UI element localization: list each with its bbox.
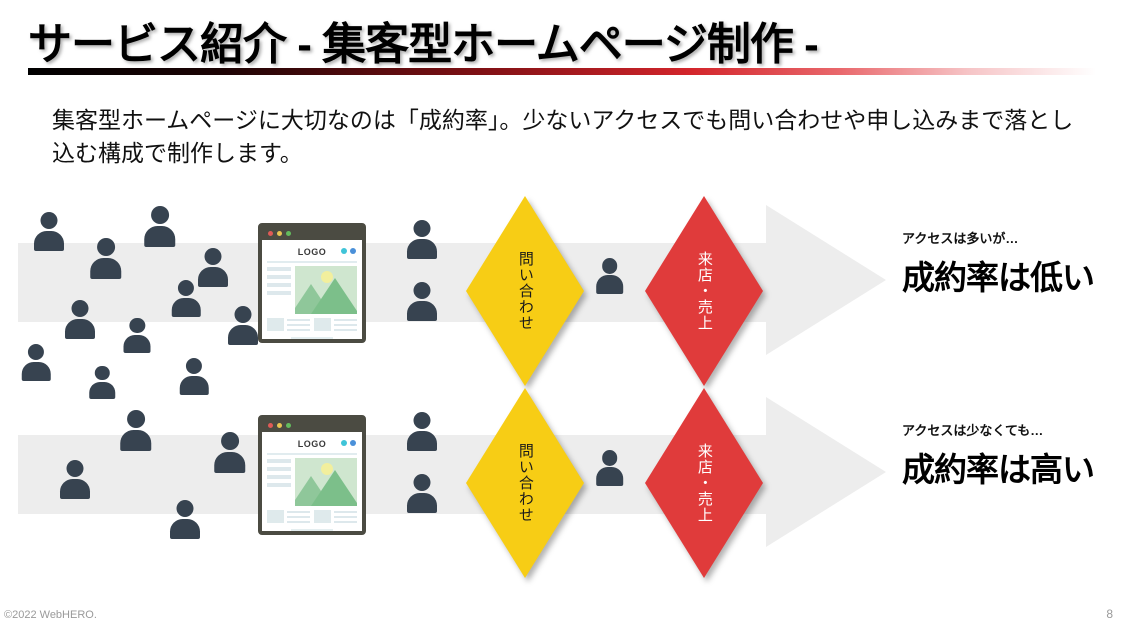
footer-copyright: ©2022 WebHERO. — [4, 609, 97, 621]
step-inquiry-label: 問い合わせ — [516, 443, 534, 523]
flow-row-low-traffic: LOGO — [0, 388, 1125, 578]
caption-big: 成約率は低い — [902, 251, 1094, 299]
person-icon — [594, 258, 625, 294]
mockup-logo: LOGO — [298, 247, 327, 257]
blue-dot-icon — [350, 248, 356, 254]
flow-row-high-traffic: LOGO — [0, 196, 1125, 386]
mountain-right-icon — [311, 278, 357, 314]
person-icon — [63, 300, 97, 339]
cyan-dot-icon — [341, 248, 347, 254]
blue-dot-icon — [350, 440, 356, 446]
page-title: サービス紹介 - 集客型ホームページ制作 - — [28, 8, 818, 72]
maximize-dot-icon — [286, 231, 291, 236]
person-icon — [594, 450, 625, 486]
browser-titlebar — [262, 419, 362, 432]
person-icon — [32, 212, 66, 251]
flow-arrow-head — [766, 205, 886, 355]
lead-paragraph: 集客型ホームページに大切なのは「成約率」。少ないアクセスでも問い合わせや申し込み… — [52, 104, 1088, 169]
person-icon — [212, 432, 248, 473]
slide: サービス紹介 - 集客型ホームページ制作 - 集客型ホームページに大切なのは「成… — [0, 0, 1125, 632]
person-icon — [122, 318, 153, 353]
person-icon — [405, 474, 439, 513]
mockup-cards — [267, 318, 357, 331]
mockup-header: LOGO — [267, 244, 357, 259]
caption-high-traffic: アクセスは多いが… 成約率は低い — [902, 228, 1094, 299]
step-inquiry: 問い合わせ — [466, 196, 584, 386]
step-visit-sales: 来店・売上 — [645, 196, 763, 386]
mockup-cards — [267, 510, 357, 523]
caption-small: アクセスは多いが… — [902, 228, 1094, 247]
step-visit-sales-label: 来店・売上 — [695, 443, 713, 523]
person-icon — [88, 238, 124, 279]
browser-page: LOGO — [262, 240, 362, 343]
browser-page: LOGO — [262, 432, 362, 535]
website-mockup: LOGO — [258, 415, 366, 535]
person-icon — [405, 220, 439, 259]
person-icon — [168, 500, 202, 539]
mockup-hero-image — [295, 458, 357, 506]
mockup-header: LOGO — [267, 436, 357, 451]
caption-big: 成約率は高い — [902, 443, 1094, 491]
person-icon — [170, 280, 202, 317]
mockup-divider — [267, 261, 357, 263]
step-inquiry: 問い合わせ — [466, 388, 584, 578]
person-icon — [142, 206, 178, 247]
step-visit-sales: 来店・売上 — [645, 388, 763, 578]
mockup-body — [267, 458, 357, 506]
mockup-sidebar — [267, 266, 291, 314]
cyan-dot-icon — [341, 440, 347, 446]
person-icon — [20, 344, 52, 381]
page-number: 8 — [1106, 607, 1113, 621]
person-icon — [405, 282, 439, 321]
mountain-right-icon — [311, 470, 357, 506]
caption-low-traffic: アクセスは少なくても… 成約率は高い — [902, 420, 1094, 491]
person-icon — [226, 306, 260, 345]
mockup-divider — [267, 453, 357, 455]
mockup-nav-dots — [341, 248, 356, 254]
step-inquiry-label: 問い合わせ — [516, 251, 534, 331]
person-icon — [58, 460, 92, 499]
mockup-sidebar — [267, 458, 291, 506]
mockup-footer-line — [291, 529, 332, 531]
caption-small: アクセスは少なくても… — [902, 420, 1094, 439]
mockup-body — [267, 266, 357, 314]
mockup-logo: LOGO — [298, 439, 327, 449]
mockup-nav-dots — [341, 440, 356, 446]
title-underline-rule — [28, 68, 1096, 75]
minimize-dot-icon — [277, 423, 282, 428]
person-icon — [118, 410, 154, 451]
step-visit-sales-label: 来店・売上 — [695, 251, 713, 331]
maximize-dot-icon — [286, 423, 291, 428]
close-dot-icon — [268, 231, 273, 236]
mockup-footer-line — [291, 337, 332, 339]
person-icon — [405, 412, 439, 451]
flow-arrow-head — [766, 397, 886, 547]
minimize-dot-icon — [277, 231, 282, 236]
mockup-hero-image — [295, 266, 357, 314]
browser-titlebar — [262, 227, 362, 240]
close-dot-icon — [268, 423, 273, 428]
website-mockup: LOGO — [258, 223, 366, 343]
